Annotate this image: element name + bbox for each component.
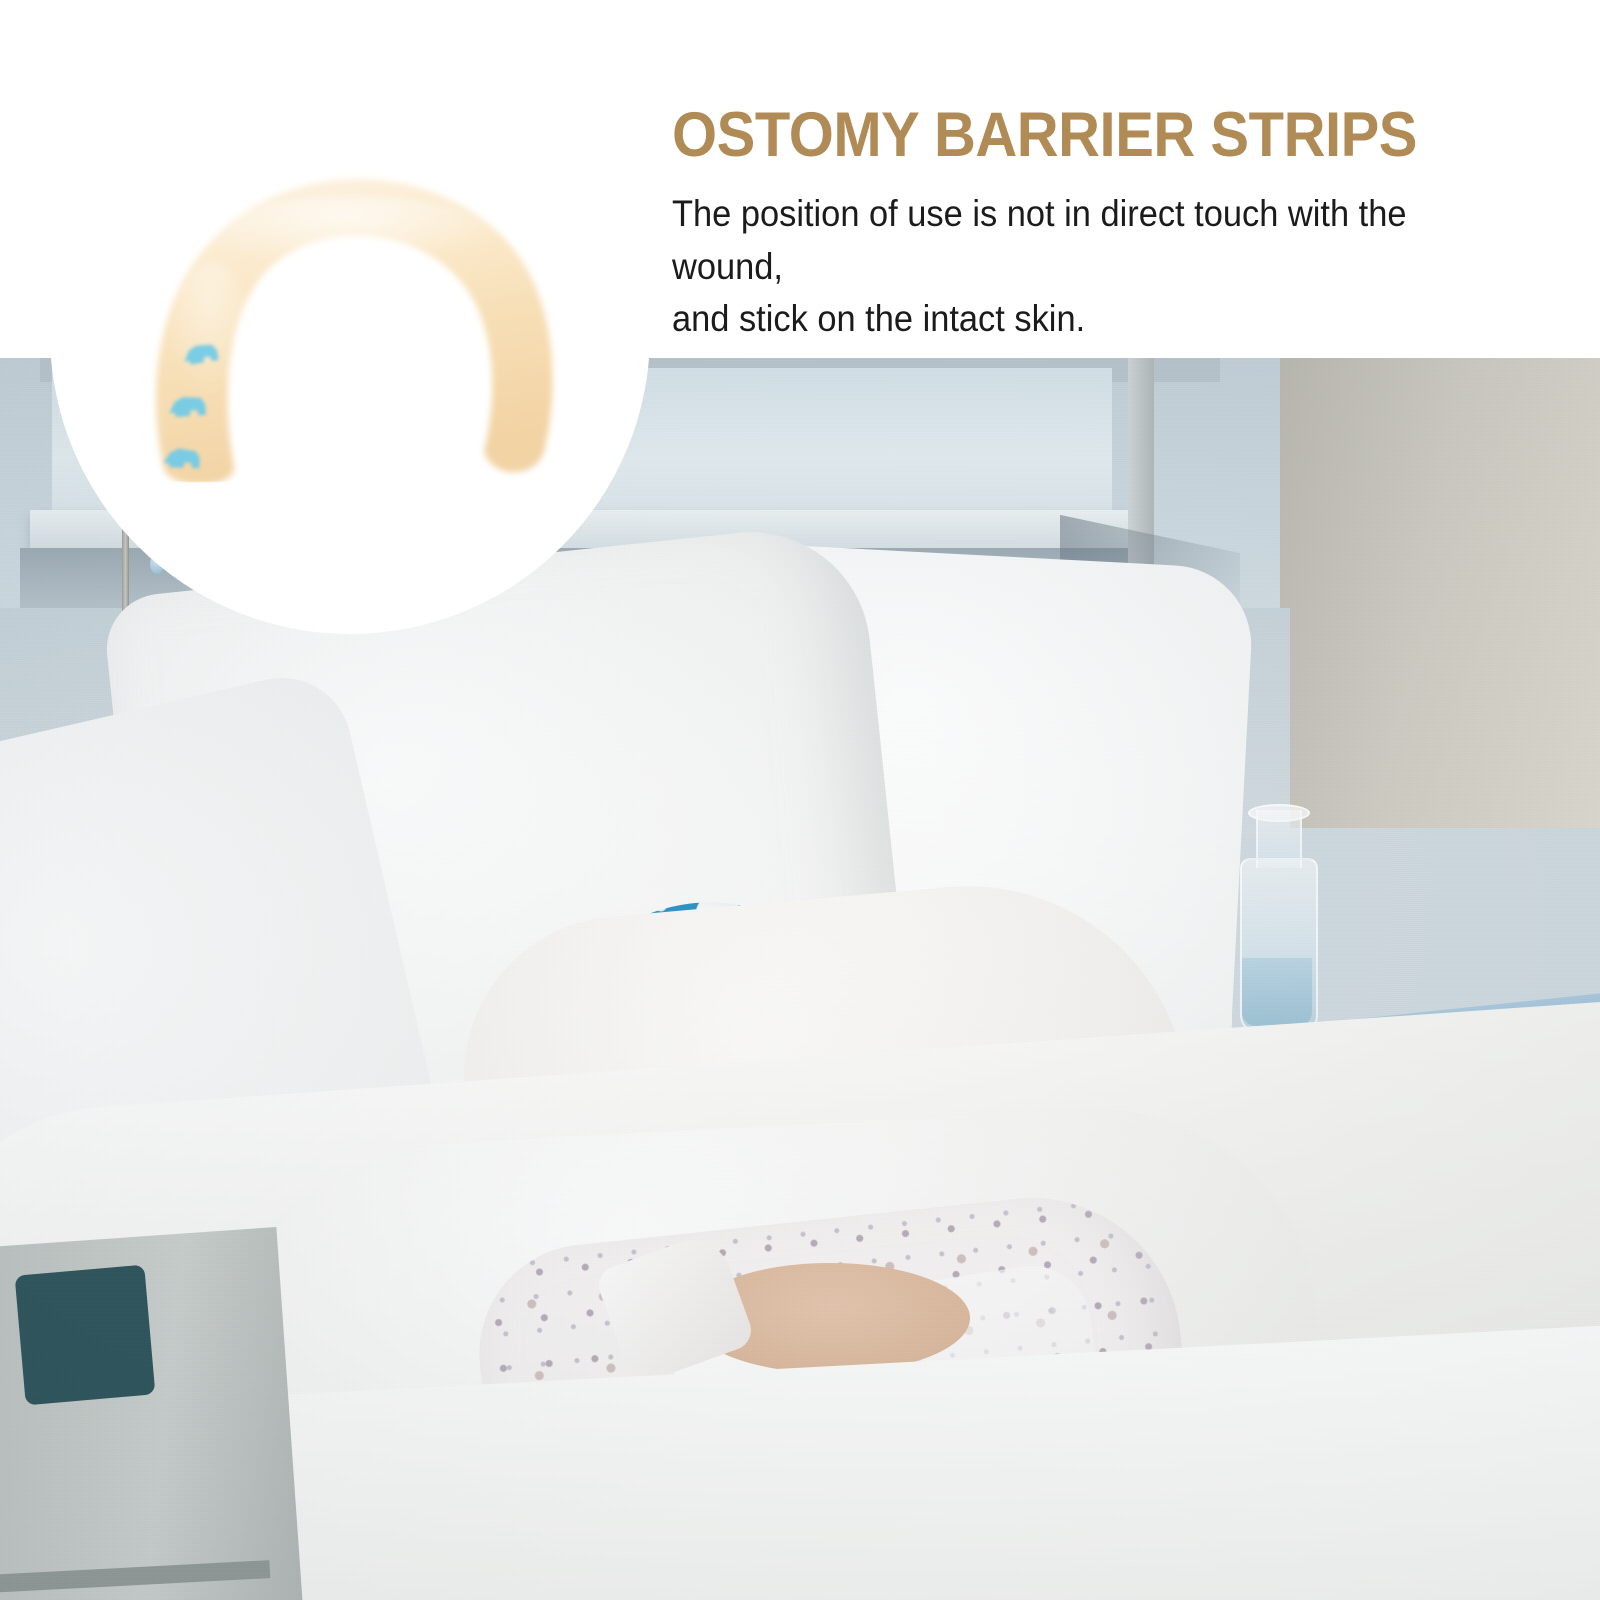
subtitle-line-1: The position of use is not in direct tou…	[672, 188, 1514, 293]
page-subtitle: The position of use is not in direct tou…	[672, 188, 1514, 346]
product-marketing-image: OSTOMY BARRIER STRIPS The position of us…	[0, 0, 1600, 1600]
wall-right-column	[1280, 358, 1600, 828]
product-closeup-circle	[50, 34, 650, 634]
page-title: OSTOMY BARRIER STRIPS	[672, 104, 1514, 167]
carafe-water	[1242, 958, 1312, 1026]
barrier-strip-svg	[102, 152, 602, 482]
barrier-strip-figure	[102, 152, 602, 482]
product-closeup-inner	[50, 34, 650, 634]
subtitle-line-2: and stick on the intact skin.	[672, 293, 1514, 346]
bed-frame-panel	[15, 1265, 156, 1406]
